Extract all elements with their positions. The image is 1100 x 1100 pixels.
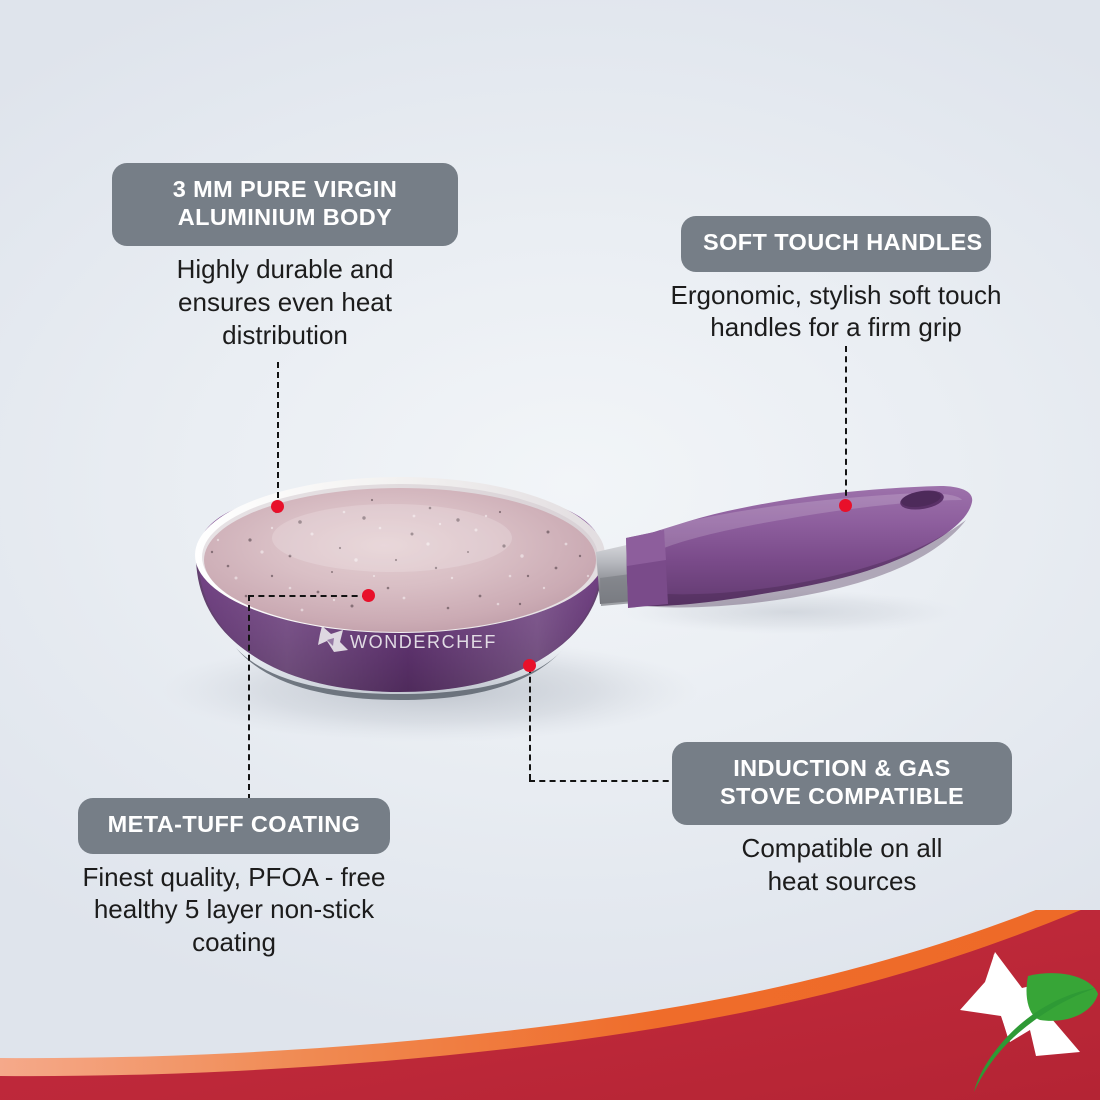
hotspot-dot-coating [362,589,375,602]
badge-induction-gas: INDUCTION & GAS STOVE COMPATIBLE [672,742,1012,825]
hotspot-dot-aluminium [271,500,284,513]
callout-aluminium-body: 3 MM PURE VIRGIN ALUMINIUM BODY Highly d… [112,163,458,352]
badge-line: SOFT TOUCH HANDLES [703,229,969,257]
desc-line: ensures even heat [112,286,458,319]
desc-line: heat sources [672,865,1012,898]
badge-line: META-TUFF COATING [100,811,368,839]
desc-aluminium-body: Highly durable and ensures even heat dis… [112,253,458,351]
badge-aluminium-body: 3 MM PURE VIRGIN ALUMINIUM BODY [112,163,458,246]
svg-text:WONDERCHEF: WONDERCHEF [350,632,497,652]
desc-line: Compatible on all [672,832,1012,865]
callout-induction-gas: INDUCTION & GAS STOVE COMPATIBLE Compati… [672,742,1012,898]
badge-line: STOVE COMPATIBLE [694,783,990,811]
badge-line: ALUMINIUM BODY [134,204,436,232]
desc-line: handles for a firm grip [648,311,1024,344]
desc-line: Ergonomic, stylish soft touch [648,279,1024,312]
desc-line: Highly durable and [112,253,458,286]
callout-soft-touch-handles: SOFT TOUCH HANDLES Ergonomic, stylish so… [648,216,1024,344]
hotspot-dot-induction [523,659,536,672]
badge-line: 3 MM PURE VIRGIN [134,176,436,204]
desc-soft-touch-handles: Ergonomic, stylish soft touch handles fo… [648,279,1024,345]
hotspot-dot-handle [839,499,852,512]
product-infographic: WONDERCHEF 3 MM PURE VIRGIN ALUMINIUM BO… [0,0,1100,1100]
bottom-brand-banner [0,910,1100,1100]
desc-induction-gas: Compatible on all heat sources [672,832,1012,898]
badge-soft-touch-handles: SOFT TOUCH HANDLES [681,216,991,272]
badge-line: INDUCTION & GAS [694,755,990,783]
badge-meta-tuff-coating: META-TUFF COATING [78,798,390,854]
desc-line: distribution [112,319,458,352]
desc-line: Finest quality, PFOA - free [50,861,418,894]
